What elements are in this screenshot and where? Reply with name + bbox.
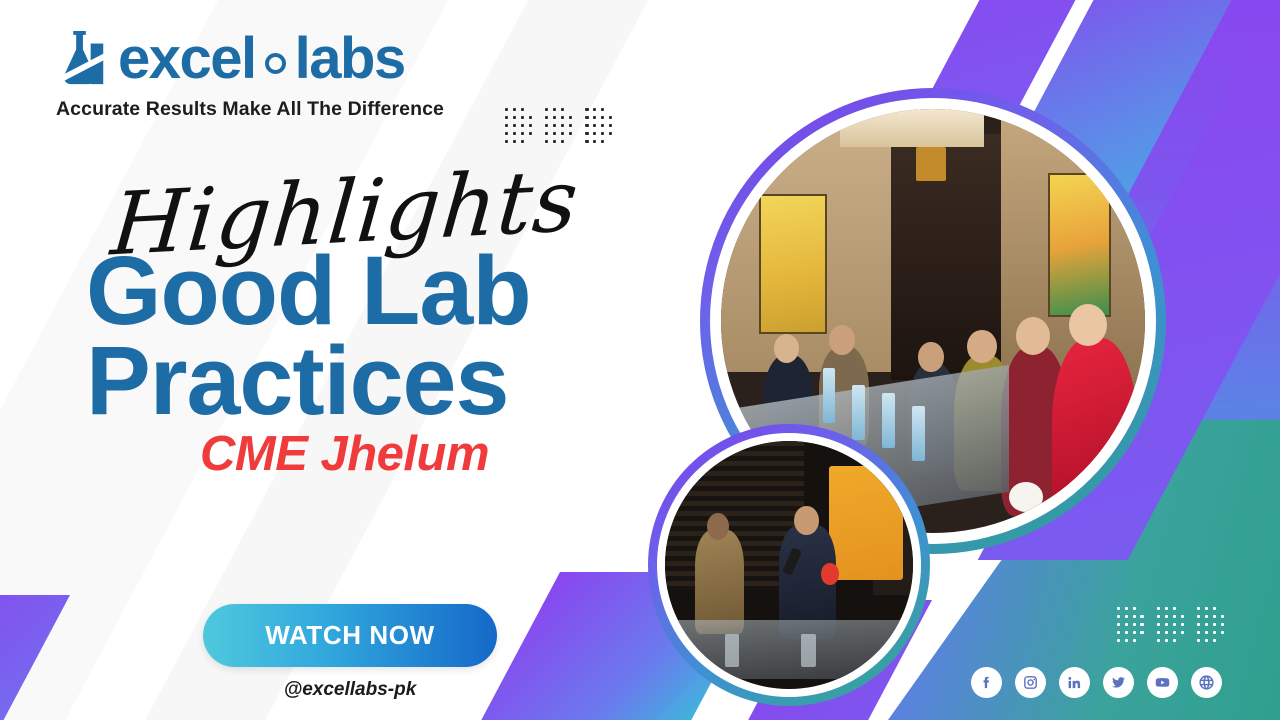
facebook-icon[interactable]: [971, 667, 1002, 698]
watch-now-button[interactable]: WATCH NOW: [203, 604, 497, 667]
logo-wordmark: excel labs: [118, 30, 405, 88]
logo-text-excel: excel: [118, 30, 256, 88]
title-line-2: Practices: [86, 336, 650, 426]
youtube-icon[interactable]: [1147, 667, 1178, 698]
cta-block: WATCH NOW @excellabs-pk: [0, 604, 700, 701]
event-subtitle: CME Jhelum: [0, 430, 650, 479]
social-links: [971, 667, 1222, 698]
dot-cluster: [1117, 607, 1144, 642]
dot-cluster: [505, 108, 532, 143]
dot-cluster: [1157, 607, 1184, 642]
dot-grid-top-icon: [505, 108, 612, 143]
page-title: Good Lab Practices: [0, 246, 650, 426]
instagram-icon[interactable]: [1015, 667, 1046, 698]
website-globe-icon[interactable]: [1191, 667, 1222, 698]
headline-block: Highlights Good Lab Practices CME Jhelum: [0, 170, 650, 479]
flask-icon: [52, 28, 110, 90]
linkedin-icon[interactable]: [1059, 667, 1090, 698]
panel-speakers-photo: [665, 441, 913, 689]
photo-circle-small: [648, 424, 930, 706]
logo-text-labs: labs: [295, 30, 405, 88]
social-handle: @excellabs-pk: [0, 679, 700, 701]
dot-cluster: [585, 108, 612, 143]
twitter-icon[interactable]: [1103, 667, 1134, 698]
promo-banner: excel labs Accurate Results Make All The…: [0, 0, 1280, 720]
dot-grid-bottom-icon: [1117, 607, 1224, 642]
dot-cluster: [1197, 607, 1224, 642]
dot-cluster: [545, 108, 572, 143]
brand-logo[interactable]: excel labs Accurate Results Make All The…: [52, 28, 444, 121]
logo-dot-icon: [265, 53, 286, 74]
brand-tagline: Accurate Results Make All The Difference: [56, 98, 444, 121]
